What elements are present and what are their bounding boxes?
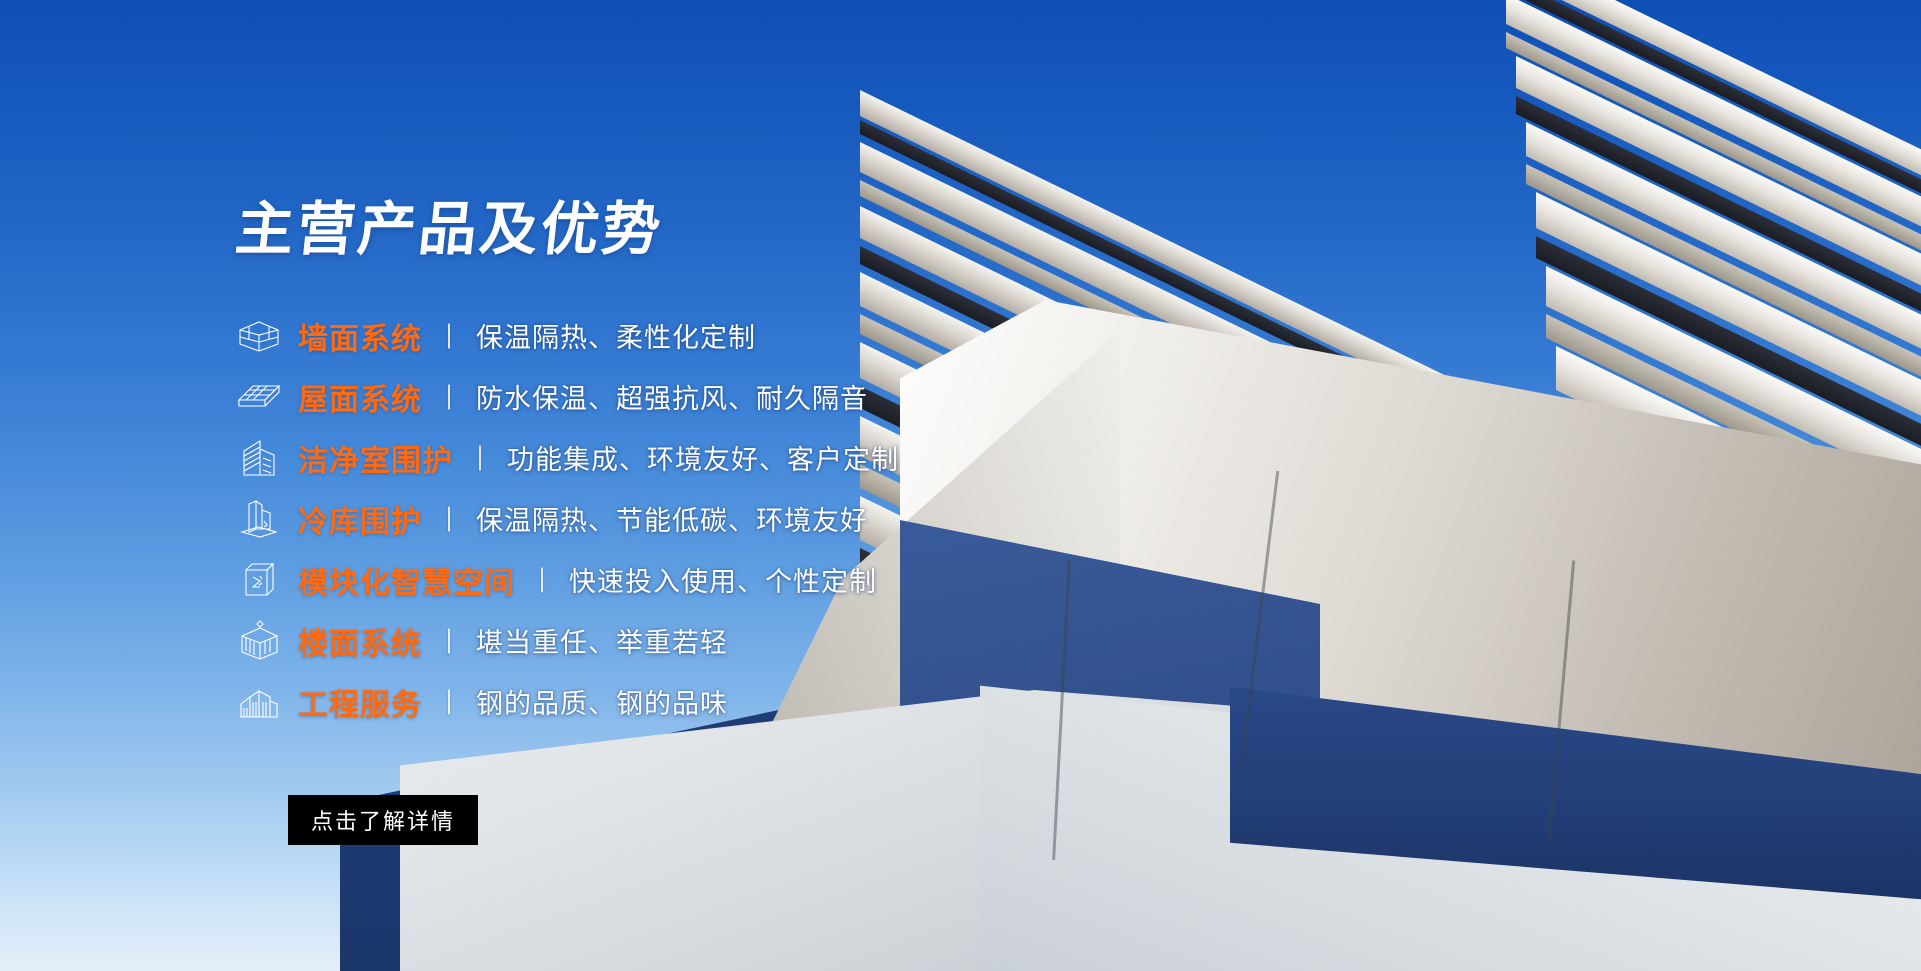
building-eaves	[860, 60, 1921, 740]
item-name: 屋面系统	[298, 375, 422, 419]
list-item[interactable]: 冷库围护 丨 保温隔热、节能低碳、环境友好	[236, 488, 996, 549]
roof-system-icon	[236, 374, 282, 420]
wall-system-icon	[236, 313, 282, 359]
learn-more-button[interactable]: 点击了解详情	[288, 795, 478, 845]
list-item[interactable]: 工程服务 丨 钢的品质、钢的品味	[236, 671, 996, 732]
item-separator: 丨	[442, 317, 456, 354]
item-separator: 丨	[442, 683, 456, 720]
list-item[interactable]: 墙面系统 丨 保温隔热、柔性化定制	[236, 305, 996, 366]
item-desc: 保温隔热、节能低碳、环境友好	[476, 499, 868, 538]
item-desc: 功能集成、环境友好、客户定制	[507, 438, 899, 477]
list-item[interactable]: 屋面系统 丨 防水保温、超强抗风、耐久隔音	[236, 366, 996, 427]
page-title: 主营产品及优势	[233, 200, 666, 258]
item-name: 工程服务	[298, 680, 422, 724]
item-desc: 防水保温、超强抗风、耐久隔音	[476, 377, 868, 416]
item-separator: 丨	[442, 378, 456, 415]
item-desc: 钢的品质、钢的品味	[476, 682, 728, 721]
cleanroom-icon	[236, 435, 282, 481]
list-item[interactable]: 模块化智慧空间 丨 快速投入使用、个性定制	[236, 549, 996, 610]
engineering-service-icon	[236, 679, 282, 725]
item-name: 洁净室围护	[298, 436, 453, 480]
item-name: 冷库围护	[298, 497, 422, 541]
cold-storage-icon	[236, 496, 282, 542]
item-separator: 丨	[535, 561, 549, 598]
item-separator: 丨	[442, 622, 456, 659]
hero-content: 主营产品及优势 墙面系统 丨 保温隔热、柔性化定制	[0, 0, 900, 971]
item-name: 楼面系统	[298, 619, 422, 663]
item-desc: 快速投入使用、个性定制	[569, 560, 877, 599]
item-desc: 堪当重任、举重若轻	[476, 621, 728, 660]
item-name: 模块化智慧空间	[298, 558, 515, 602]
hero-banner: 主营产品及优势 墙面系统 丨 保温隔热、柔性化定制	[0, 0, 1921, 971]
modular-space-icon	[236, 557, 282, 603]
floor-system-icon	[236, 618, 282, 664]
list-item[interactable]: 楼面系统 丨 堪当重任、举重若轻	[236, 610, 996, 671]
product-list: 墙面系统 丨 保温隔热、柔性化定制 屋面系统 丨 防水保温、超强抗	[236, 305, 996, 732]
item-desc: 保温隔热、柔性化定制	[476, 316, 756, 355]
item-name: 墙面系统	[298, 314, 422, 358]
list-item[interactable]: 洁净室围护 丨 功能集成、环境友好、客户定制	[236, 427, 996, 488]
item-separator: 丨	[473, 439, 487, 476]
item-separator: 丨	[442, 500, 456, 537]
